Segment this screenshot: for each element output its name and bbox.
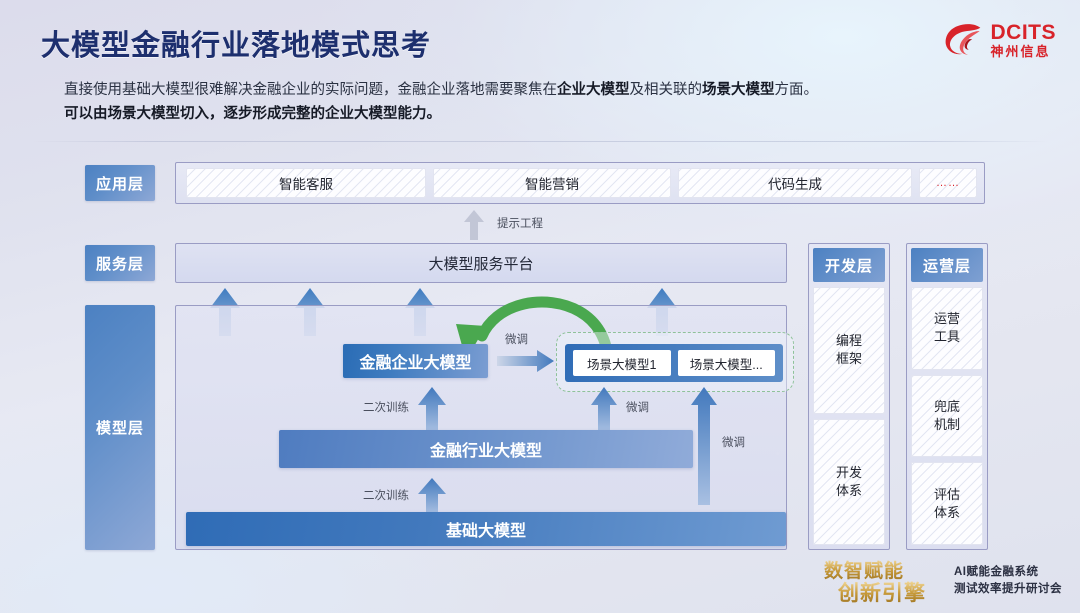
layer-tag-application: 应用层 (85, 165, 155, 201)
dev-cell-system-label: 开发体系 (836, 464, 862, 500)
ellipsis-icon: …… (936, 178, 960, 189)
label-finetune-1: 微调 (505, 331, 528, 347)
svg-text:数智赋能: 数智赋能 (824, 559, 904, 582)
label-retrain-2: 二次训练 (363, 487, 409, 503)
scene-models-container: 场景大模型1 场景大模型... (565, 344, 783, 382)
event-title-line2: 测试效率提升研讨会 (954, 581, 1062, 598)
dev-cell-framework-label: 编程框架 (836, 332, 862, 368)
subtitle-seg-3: 方面。 (775, 82, 819, 98)
ops-cell-tools-label: 运营工具 (934, 310, 960, 346)
ops-cell-fallback-label: 兜底机制 (934, 398, 960, 434)
ops-cell-evaluation-label: 评估体系 (934, 486, 960, 522)
dcits-logo: DCITS 神州信息 (944, 22, 1057, 58)
service-platform-box[interactable]: 大模型服务平台 (175, 243, 787, 283)
subtitle-line-2: 可以由场景大模型切入，逐步形成完整的企业大模型能力。 (64, 102, 1024, 126)
logo-en-text: DCITS (991, 22, 1057, 43)
app-card-code-gen[interactable]: 代码生成 (678, 168, 912, 198)
label-finetune-3: 微调 (722, 434, 745, 450)
subtitle-emph-2: 场景大模型 (702, 82, 775, 98)
event-title-line1: AI赋能金融系统 (954, 564, 1062, 581)
event-logo-icon: 数智赋能 创新引擎 (824, 557, 944, 605)
event-branding: 数智赋能 创新引擎 AI赋能金融系统 测试效率提升研讨会 (824, 557, 1062, 605)
arrow-up-retrain-1-icon (417, 387, 447, 432)
ops-column: 运营层 运营工具 兜底机制 评估体系 (906, 243, 988, 550)
dev-column: 开发层 编程框架 开发体系 (808, 243, 890, 550)
enterprise-model-bar[interactable]: 金融企业大模型 (343, 344, 488, 378)
dev-cell-system[interactable]: 开发体系 (813, 419, 885, 546)
arrow-up-retrain-2-icon (417, 478, 447, 514)
label-retrain-1: 二次训练 (363, 399, 409, 415)
base-model-bar[interactable]: 基础大模型 (186, 512, 786, 546)
swoosh-icon (944, 22, 984, 58)
ops-column-header: 运营层 (911, 248, 983, 282)
dev-cell-framework[interactable]: 编程框架 (813, 287, 885, 414)
app-card-more[interactable]: …… (919, 168, 977, 198)
arrow-up-finetune-3-icon (690, 387, 718, 505)
slide-root: 大模型金融行业落地模式思考 直接使用基础大模型很难解决金融企业的实际问题，金融企… (0, 0, 1080, 613)
subtitle-emph-1: 企业大模型 (557, 82, 630, 98)
label-finetune-2: 微调 (626, 399, 649, 415)
label-prompt-engineering: 提示工程 (497, 215, 543, 231)
header-divider (32, 141, 1048, 142)
industry-model-bar[interactable]: 金融行业大模型 (279, 430, 693, 468)
layer-tag-service: 服务层 (85, 245, 155, 281)
logo-cn-text: 神州信息 (991, 45, 1057, 58)
page-title: 大模型金融行业落地模式思考 (41, 22, 431, 64)
arrow-up-finetune-2-icon (590, 387, 618, 432)
scene-card-2[interactable]: 场景大模型... (678, 350, 776, 376)
subtitle-seg-2: 及相关联的 (630, 82, 703, 98)
prompt-engineering-arrow-icon (463, 209, 485, 241)
svg-text:创新引擎: 创新引擎 (837, 581, 926, 605)
subtitle-seg-1: 直接使用基础大模型很难解决金融企业的实际问题，金融企业落地需要聚焦在 (64, 82, 557, 98)
app-card-customer-service[interactable]: 智能客服 (186, 168, 426, 198)
ops-cell-evaluation[interactable]: 评估体系 (911, 462, 983, 545)
page-subtitle: 直接使用基础大模型很难解决金融企业的实际问题，金融企业落地需要聚焦在企业大模型及… (64, 78, 1024, 126)
app-card-marketing[interactable]: 智能营销 (433, 168, 671, 198)
arrow-right-finetune-icon (497, 349, 555, 373)
dev-column-header: 开发层 (813, 248, 885, 282)
layer-tag-model: 模型层 (85, 305, 155, 550)
ops-cell-fallback[interactable]: 兜底机制 (911, 375, 983, 458)
scene-card-1[interactable]: 场景大模型1 (573, 350, 671, 376)
ops-cell-tools[interactable]: 运营工具 (911, 287, 983, 370)
